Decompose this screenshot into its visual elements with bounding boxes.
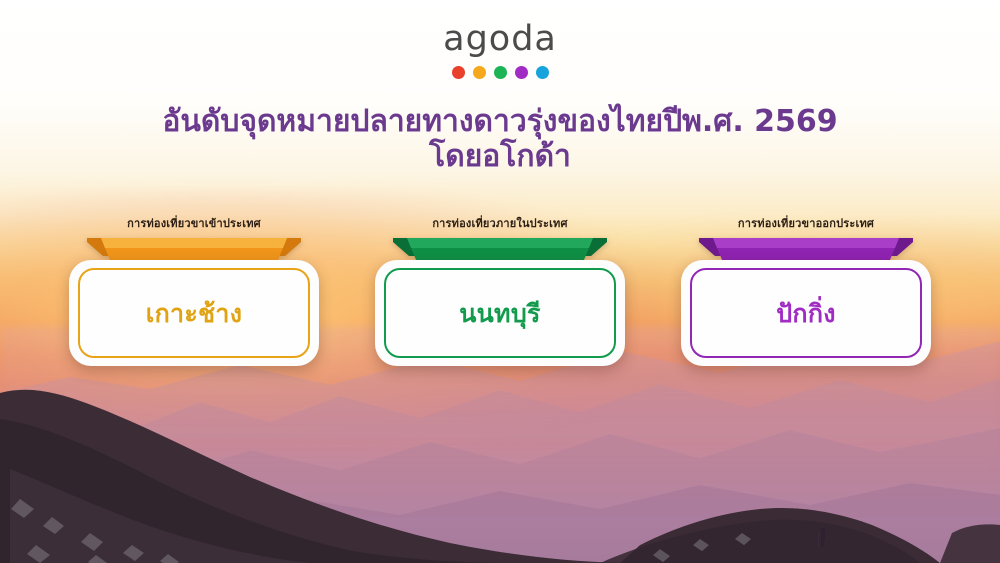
card-domestic-label: การท่องเที่ยวภายในประเทศ bbox=[432, 214, 567, 232]
card-outbound: การท่องเที่ยวขาออกประเทศ ปักกิ่ง bbox=[681, 214, 931, 366]
card-inbound-body[interactable]: เกาะช้าง bbox=[69, 238, 319, 366]
card-outbound-label: การท่องเที่ยวขาออกประเทศ bbox=[738, 214, 874, 232]
agoda-logo-dots bbox=[452, 66, 549, 79]
title-line-1: อันดับจุดหมายปลายทางดาวรุ่งของไทยปีพ.ศ. … bbox=[0, 104, 1000, 139]
dot-amber-icon bbox=[473, 66, 486, 79]
dot-green-icon bbox=[494, 66, 507, 79]
card-inbound: การท่องเที่ยวขาเข้าประเทศ เกาะช้าง bbox=[69, 214, 319, 366]
right-summit-ridge bbox=[0, 473, 1000, 563]
card-domestic: การท่องเที่ยวภายในประเทศ นนทบุรี bbox=[375, 214, 625, 366]
card-inbound-inner: เกาะช้าง bbox=[78, 268, 310, 358]
card-domestic-inner: นนทบุรี bbox=[384, 268, 616, 358]
card-inbound-label: การท่องเที่ยวขาเข้าประเทศ bbox=[127, 214, 261, 232]
agoda-wordmark: agoda bbox=[443, 22, 557, 57]
dot-purple-icon bbox=[515, 66, 528, 79]
card-inbound-plate: เกาะช้าง bbox=[69, 260, 319, 366]
agoda-logo: agoda bbox=[0, 22, 1000, 79]
card-outbound-body[interactable]: ปักกิ่ง bbox=[681, 238, 931, 366]
card-domestic-body[interactable]: นนทบุรี bbox=[375, 238, 625, 366]
card-domestic-plate: นนทบุรี bbox=[375, 260, 625, 366]
dot-blue-icon bbox=[536, 66, 549, 79]
card-outbound-plate: ปักกิ่ง bbox=[681, 260, 931, 366]
page-title: อันดับจุดหมายปลายทางดาวรุ่งของไทยปีพ.ศ. … bbox=[0, 104, 1000, 175]
card-outbound-inner: ปักกิ่ง bbox=[690, 268, 922, 358]
title-line-2: โดยอโกด้า bbox=[0, 139, 1000, 174]
card-domestic-value: นนทบุรี bbox=[459, 301, 540, 326]
dot-red-icon bbox=[452, 66, 465, 79]
card-outbound-value: ปักกิ่ง bbox=[776, 301, 836, 326]
slide-canvas: agoda อันดับจุดหมายปลายทางดาวรุ่งของไทยป… bbox=[0, 0, 1000, 563]
card-inbound-value: เกาะช้าง bbox=[146, 301, 242, 326]
hiker-silhouette bbox=[818, 528, 828, 548]
destination-cards: การท่องเที่ยวขาเข้าประเทศ เกาะช้าง การ bbox=[0, 214, 1000, 366]
